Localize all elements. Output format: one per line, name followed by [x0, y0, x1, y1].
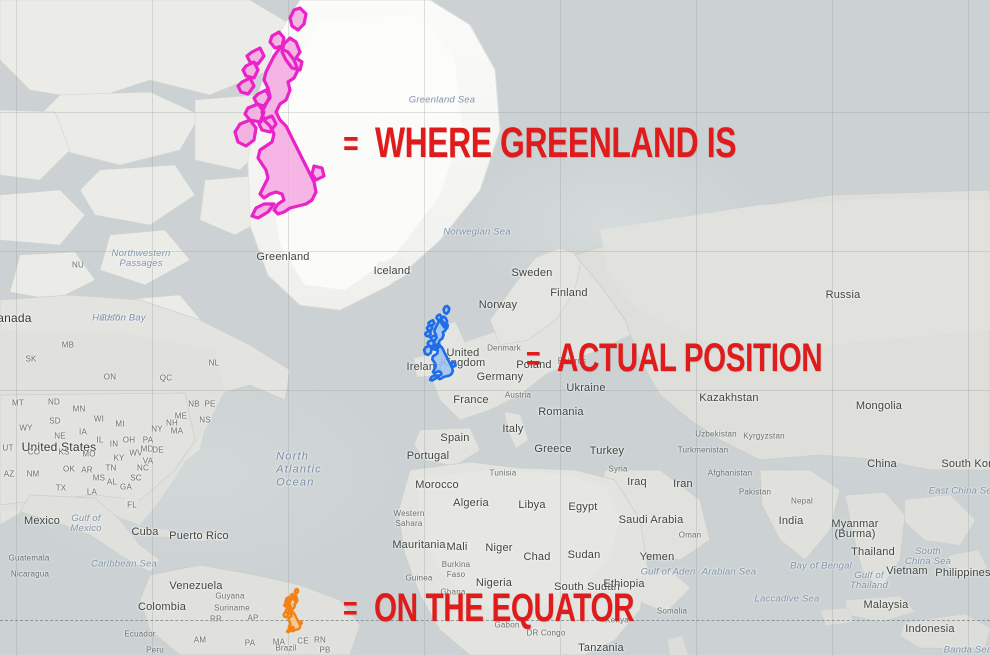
map-screenshot: GreenlandIcelandCanadaUnited StatesMexic… [0, 0, 990, 655]
uk-silhouette-path [235, 8, 324, 218]
grid-line-vertical [968, 0, 969, 655]
equator-dashed-line [0, 620, 990, 621]
grid-line-horizontal [0, 251, 990, 252]
south-america-landmass [140, 565, 360, 655]
grid-line-horizontal [0, 112, 990, 113]
grid-line-vertical [696, 0, 697, 655]
grid-line-vertical [16, 0, 17, 655]
uk-outline-actual-position [423, 306, 465, 382]
uk-silhouette-path [284, 589, 302, 632]
grid-line-horizontal [0, 390, 990, 391]
grid-line-vertical [832, 0, 833, 655]
uk-outline-equator-position [283, 589, 307, 633]
landmass-layer [0, 0, 990, 655]
grid-line-vertical [152, 0, 153, 655]
base-map [0, 0, 990, 655]
grid-line-vertical [560, 0, 561, 655]
uk-outline-greenland-position [232, 8, 350, 223]
uk-silhouette-path [424, 306, 456, 381]
